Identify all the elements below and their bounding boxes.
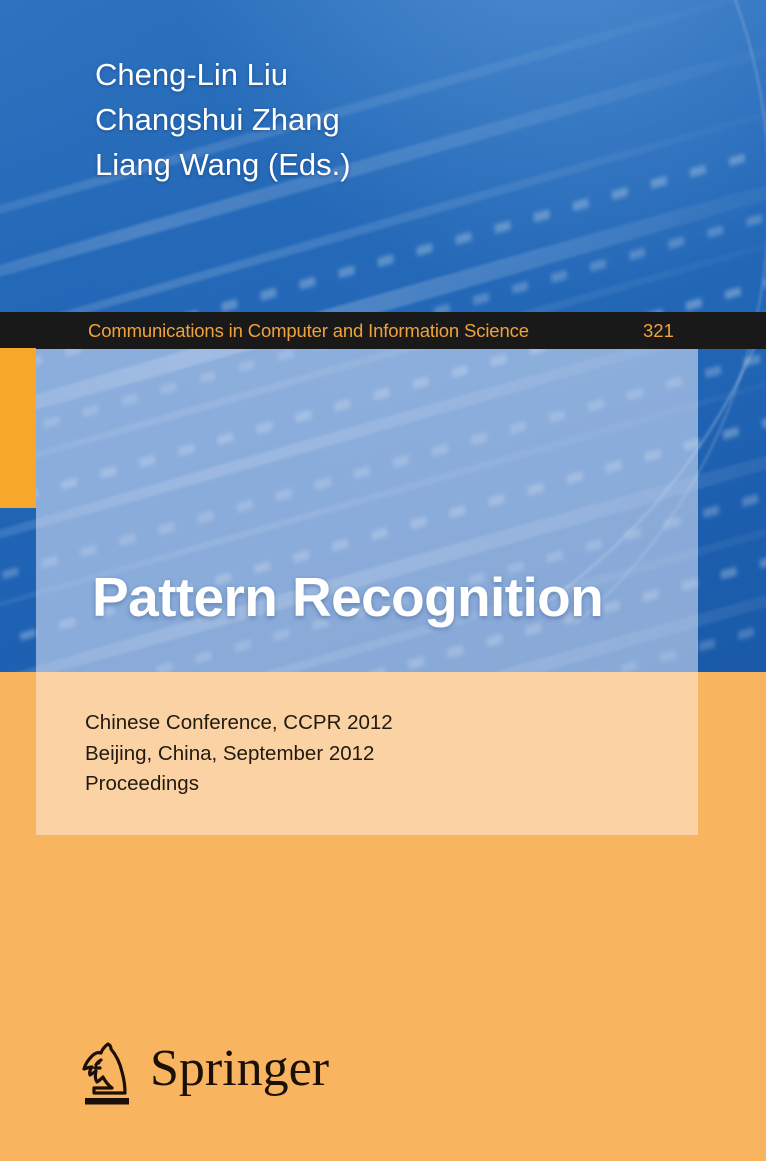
editor-name: Cheng-Lin Liu [95, 52, 351, 97]
publisher-name: Springer [150, 1043, 329, 1103]
editors-list: Cheng-Lin Liu Changshui Zhang Liang Wang… [95, 52, 351, 187]
series-title: Communications in Computer and Informati… [88, 320, 529, 342]
series-banner: Communications in Computer and Informati… [0, 312, 766, 349]
subtitle-line: Beijing, China, September 2012 [85, 739, 393, 770]
editor-name: Liang Wang (Eds.) [95, 142, 351, 187]
book-title: Pattern Recognition [92, 565, 603, 629]
orange-accent-tab [0, 348, 36, 508]
book-cover: Cheng-Lin Liu Changshui Zhang Liang Wang… [0, 0, 766, 1161]
series-volume-number: 321 [643, 320, 674, 342]
editor-name: Changshui Zhang [95, 97, 351, 142]
publisher-logo: Springer [78, 1038, 329, 1108]
subtitle-line: Chinese Conference, CCPR 2012 [85, 708, 393, 739]
subtitle-line: Proceedings [85, 769, 393, 800]
subtitle-block: Chinese Conference, CCPR 2012 Beijing, C… [85, 708, 393, 800]
knight-chess-piece-icon [78, 1038, 136, 1108]
